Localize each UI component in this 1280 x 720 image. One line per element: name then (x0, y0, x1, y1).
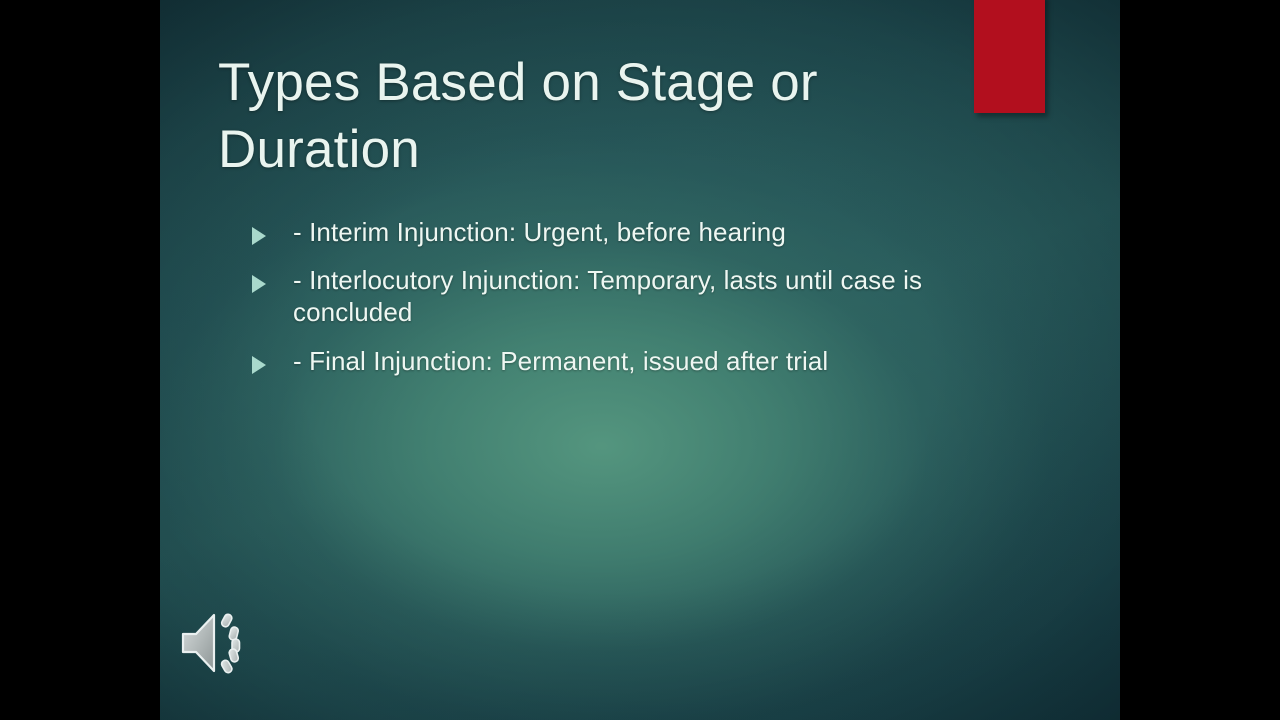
presentation-slide: Types Based on Stage or Duration - Inter… (160, 0, 1120, 720)
list-item: - Interim Injunction: Urgent, before hea… (252, 216, 1042, 248)
triangle-bullet-icon (252, 275, 266, 293)
list-item-label: - Final Injunction: Permanent, issued af… (293, 345, 1042, 377)
triangle-bullet-icon (252, 227, 266, 245)
bullet-list: - Interim Injunction: Urgent, before hea… (252, 216, 1042, 393)
list-item: - Interlocutory Injunction: Temporary, l… (252, 264, 1042, 328)
list-item-label: - Interlocutory Injunction: Temporary, l… (293, 264, 1042, 328)
letterbox-right (1120, 0, 1280, 720)
slide-title: Types Based on Stage or Duration (218, 50, 918, 184)
accent-rectangle (974, 0, 1045, 113)
video-frame: Types Based on Stage or Duration - Inter… (0, 0, 1280, 720)
list-item: - Final Injunction: Permanent, issued af… (252, 345, 1042, 377)
list-item-label: - Interim Injunction: Urgent, before hea… (293, 216, 1042, 248)
speaker-icon[interactable] (180, 608, 256, 678)
triangle-bullet-icon (252, 356, 266, 374)
letterbox-left (0, 0, 160, 720)
